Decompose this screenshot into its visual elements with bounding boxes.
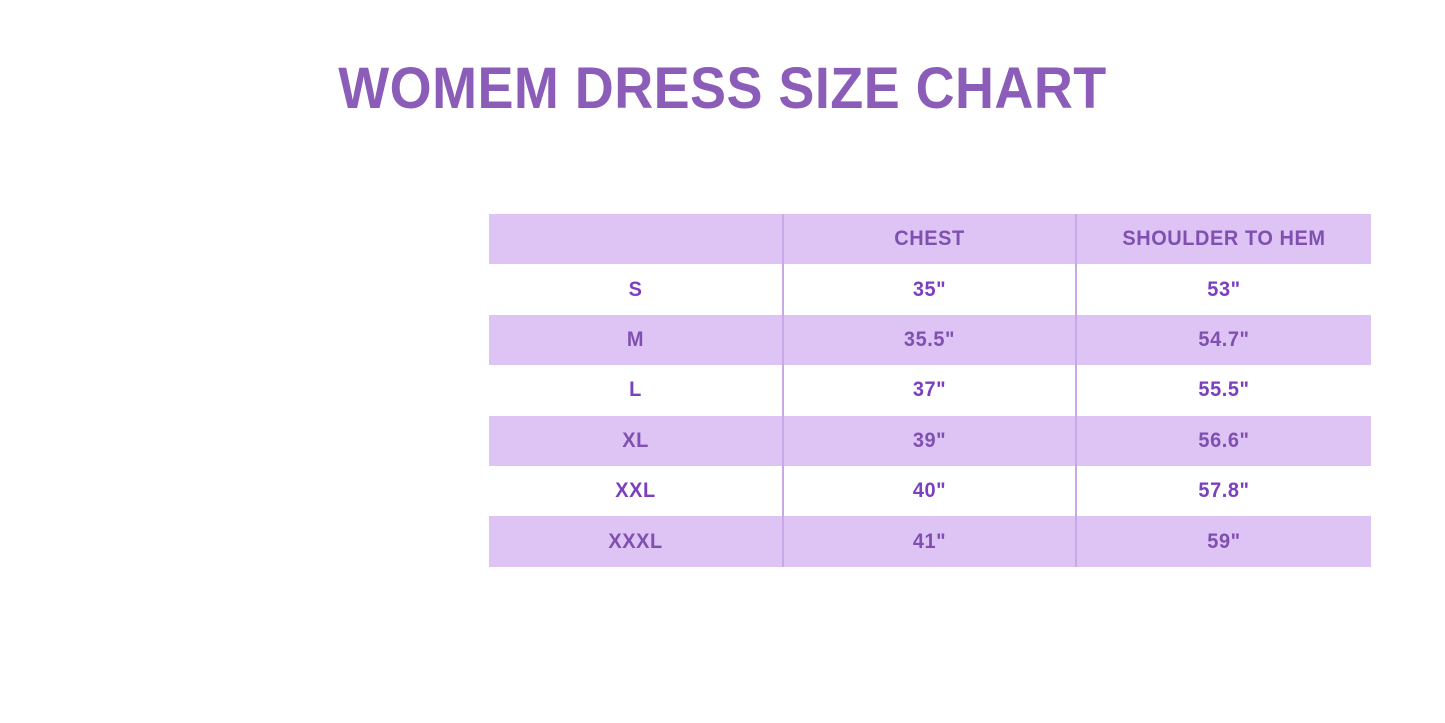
cell-shoulder-to-hem: 53" [1083, 264, 1363, 314]
cell-size: S [496, 264, 775, 314]
table-row: XL 39" 56.6" [489, 416, 1371, 466]
cell-size: XXL [496, 466, 775, 516]
table-body: S 35" 53" M 35.5" 54.7" L 37" 55.5" XL 3… [489, 264, 1371, 566]
table-row: XXL 40" 57.8" [489, 466, 1371, 516]
column-header-size [496, 214, 775, 264]
cell-chest: 41" [790, 516, 1068, 566]
table-row: S 35" 53" [489, 264, 1371, 314]
cell-shoulder-to-hem: 54.7" [1083, 315, 1363, 365]
table-row: XXXL 41" 59" [489, 516, 1371, 566]
cell-size: M [496, 315, 775, 365]
table-header: CHEST SHOULDER TO HEM [489, 214, 1371, 264]
table-header-row: CHEST SHOULDER TO HEM [489, 214, 1371, 264]
cell-shoulder-to-hem: 57.8" [1083, 466, 1363, 516]
size-chart-table: CHEST SHOULDER TO HEM S 35" 53" M 35.5" … [489, 214, 1371, 567]
cell-chest: 35.5" [790, 315, 1068, 365]
column-header-shoulder-to-hem: SHOULDER TO HEM [1083, 214, 1363, 264]
column-header-chest: CHEST [790, 214, 1068, 264]
cell-chest: 37" [790, 365, 1068, 415]
table-row: M 35.5" 54.7" [489, 315, 1371, 365]
cell-shoulder-to-hem: 59" [1083, 516, 1363, 566]
table-row: L 37" 55.5" [489, 365, 1371, 415]
cell-shoulder-to-hem: 56.6" [1083, 416, 1363, 466]
cell-shoulder-to-hem: 55.5" [1083, 365, 1363, 415]
cell-chest: 40" [790, 466, 1068, 516]
cell-size: L [496, 365, 775, 415]
cell-size: XXXL [496, 516, 775, 566]
cell-chest: 35" [790, 264, 1068, 314]
cell-chest: 39" [790, 416, 1068, 466]
page-title: WOMEM DRESS SIZE CHART [51, 55, 1395, 122]
cell-size: XL [496, 416, 775, 466]
